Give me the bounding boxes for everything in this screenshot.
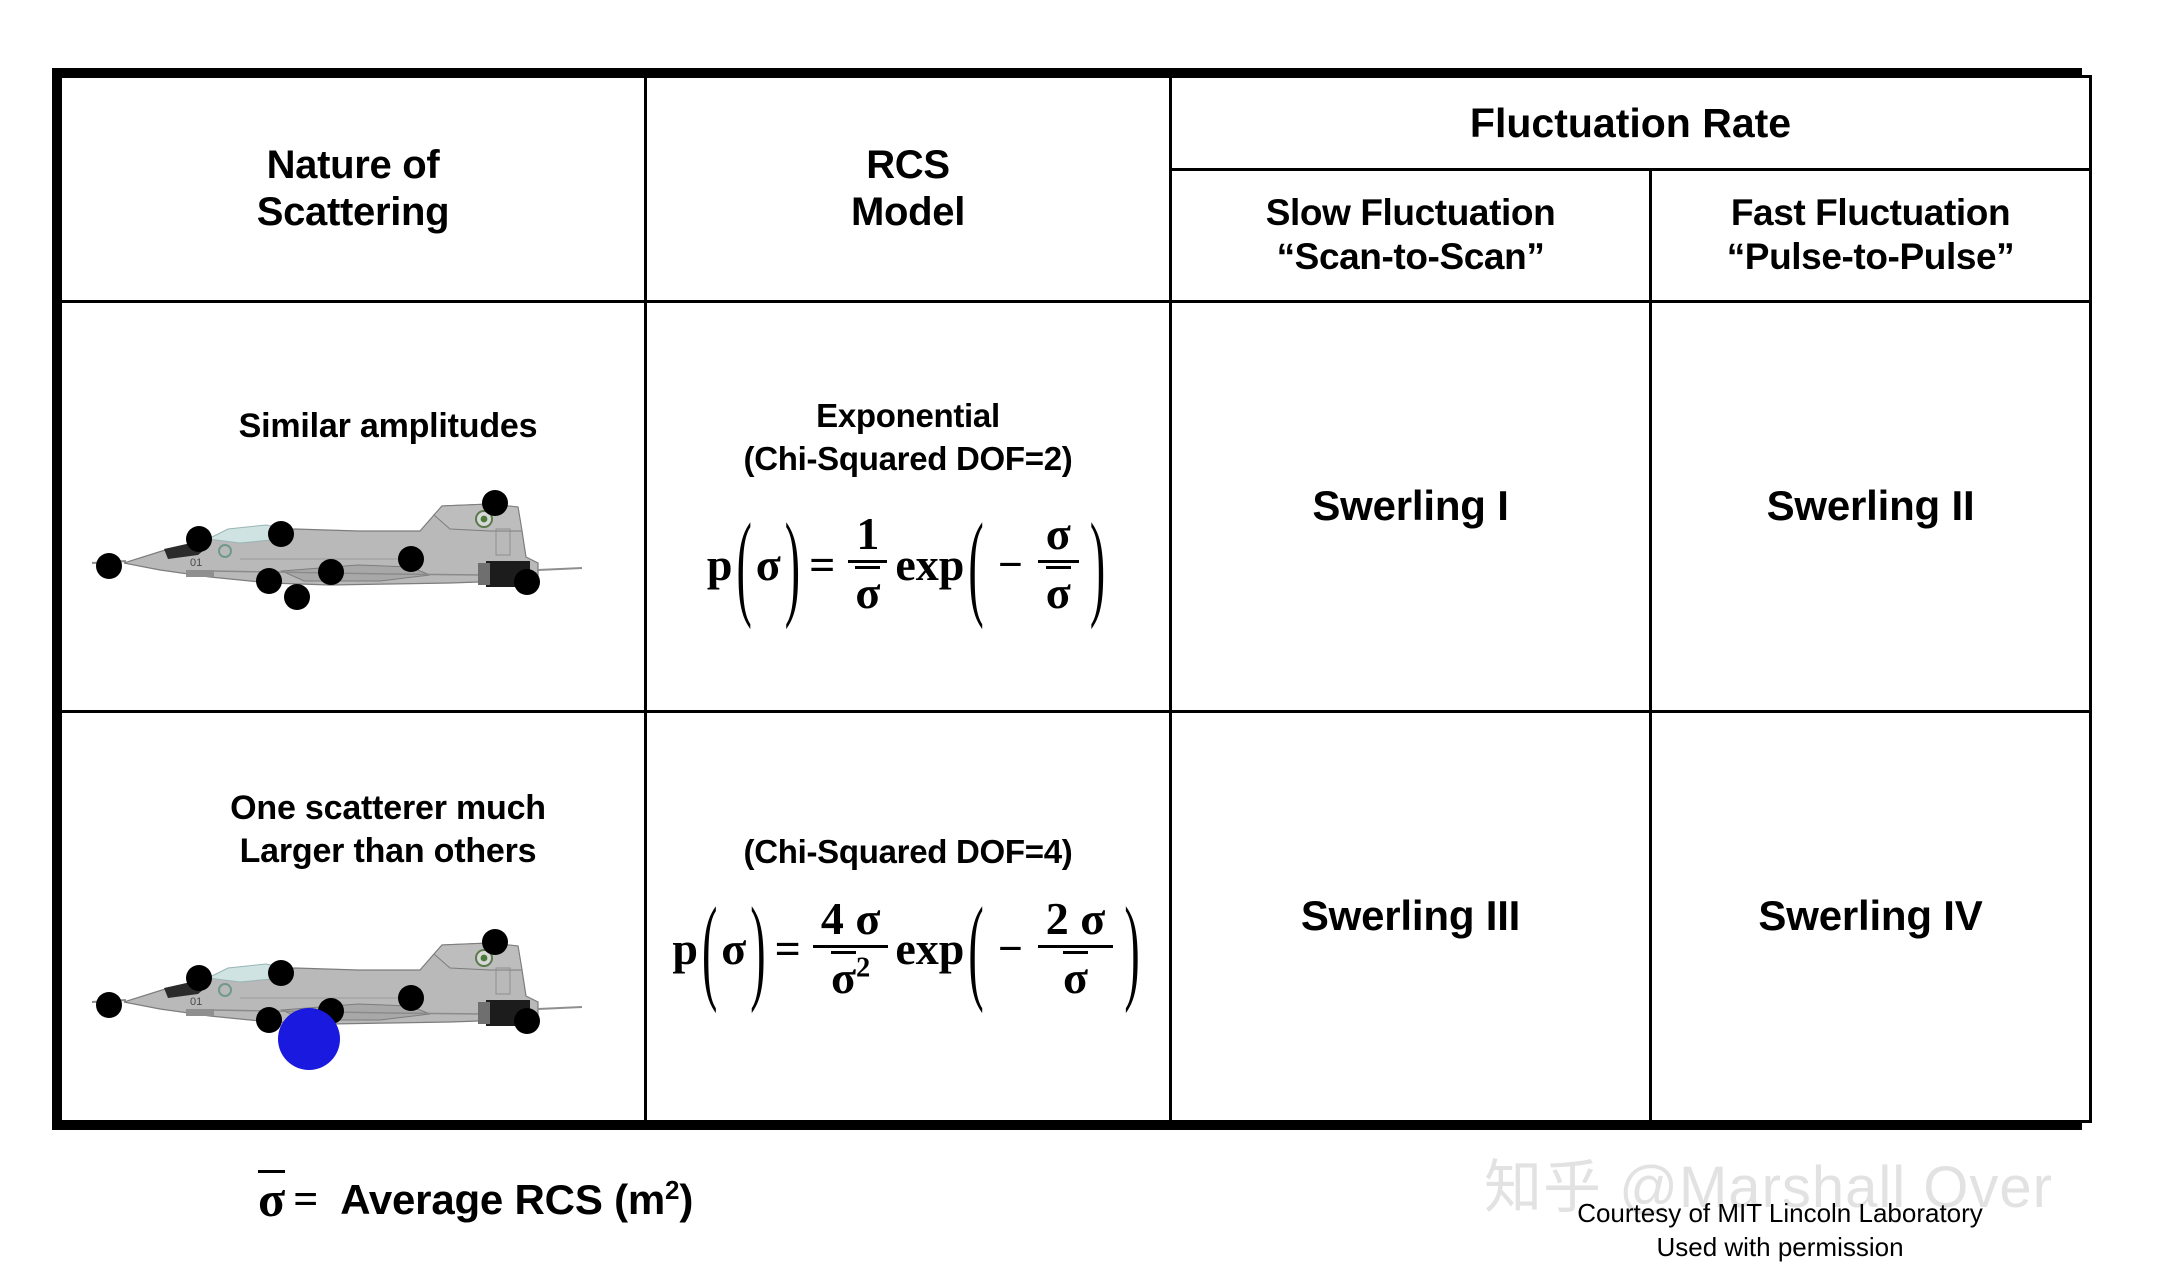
- scatterer-dot: [186, 526, 212, 552]
- cell-rcs-model-row-1: Exponential (Chi-Squared DOF=2) p ( σ ) …: [646, 301, 1171, 711]
- formula-rparen: ): [750, 881, 765, 1016]
- scatterer-dot: [268, 960, 294, 986]
- formula-rparen: ): [785, 496, 800, 631]
- formula-lparen: (: [736, 496, 751, 631]
- pdf-formula-row-2: p ( σ ) = 4 σ σ2 exp ( − 2 σ σ: [672, 896, 1143, 1002]
- scatterer-dot: [268, 521, 294, 547]
- swerling-models-table: Nature of Scattering RCS Model Fluctuati…: [52, 68, 2082, 1130]
- formula-equals: =: [809, 538, 835, 591]
- formula-minus: −: [998, 923, 1023, 974]
- formula-lparen: (: [702, 881, 717, 1016]
- scatterer-dot: [96, 992, 122, 1018]
- formula-argument-fraction: 2 σ σ: [1038, 896, 1114, 1002]
- formula-variable: σ: [721, 922, 746, 975]
- legend-description-superscript: 2: [665, 1175, 679, 1205]
- formula-arg-numerator: σ: [1038, 511, 1079, 563]
- cell-swerling-slow-row-1: Swerling I: [1171, 301, 1651, 711]
- legend-description-prefix: Average RCS (m: [340, 1176, 665, 1223]
- formula-coef-numerator: 1: [848, 511, 887, 563]
- cell-rcs-model-row-2: (Chi-Squared DOF=4) p ( σ ) = 4 σ σ2 exp…: [646, 711, 1171, 1121]
- cell-nature-row-1: Similar amplitudes: [61, 301, 646, 711]
- legend-description: Average RCS (m2): [340, 1175, 693, 1224]
- scatterer-dot: [482, 929, 508, 955]
- formula-lhs: p: [707, 538, 733, 591]
- fighter-jet-icon: 01: [90, 910, 590, 1060]
- svg-text:01: 01: [190, 557, 202, 569]
- table-header-row-1: Nature of Scattering RCS Model Fluctuati…: [61, 77, 2091, 170]
- model-title-row-2: (Chi-Squared DOF=4): [647, 831, 1169, 874]
- formula-coef-denominator: σ: [847, 563, 888, 617]
- table-row: Similar amplitudes: [61, 301, 2091, 711]
- svg-text:01: 01: [190, 996, 202, 1008]
- formula-minus: −: [998, 539, 1023, 590]
- formula-equals: =: [775, 922, 801, 975]
- scatterer-dot: [398, 985, 424, 1011]
- cell-nature-row-2: One scatterer much Larger than others: [61, 711, 646, 1121]
- credit-line-2: Used with permission: [1510, 1230, 2050, 1264]
- fighter-jet-icon: 01: [90, 471, 590, 621]
- scatterer-dot: [284, 584, 310, 610]
- sigma-bar-legend: σ = Average RCS (m2): [258, 1170, 693, 1228]
- header-rcs-model: RCS Model: [646, 77, 1171, 302]
- formula-argument-fraction: σ σ: [1038, 511, 1079, 617]
- formula-coefficient-fraction: 1 σ: [847, 511, 888, 617]
- scatterer-dot: [256, 568, 282, 594]
- table: Nature of Scattering RCS Model Fluctuati…: [59, 75, 2092, 1123]
- scatterer-dot: [186, 965, 212, 991]
- scatterer-dot: [514, 1008, 540, 1034]
- formula-exp: exp: [895, 922, 964, 975]
- formula-variable: σ: [756, 538, 781, 591]
- legend-description-suffix: ): [679, 1176, 693, 1223]
- formula-coefficient-fraction: 4 σ σ2: [813, 896, 889, 1002]
- formula-arg-numerator: 2 σ: [1038, 896, 1114, 948]
- header-nature-of-scattering: Nature of Scattering: [61, 77, 646, 302]
- formula-lhs: p: [672, 922, 698, 975]
- aircraft-diagram-row-1: 01: [90, 471, 590, 621]
- scatterer-dot: [398, 546, 424, 572]
- credit-block: Courtesy of MIT Lincoln Laboratory Used …: [1510, 1196, 2050, 1265]
- cell-swerling-slow-row-2: Swerling III: [1171, 711, 1651, 1121]
- cell-swerling-fast-row-2: Swerling IV: [1651, 711, 2091, 1121]
- nature-label-row-2: One scatterer much Larger than others: [62, 773, 644, 874]
- header-fast-fluctuation: Fast Fluctuation “Pulse-to-Pulse”: [1651, 170, 2091, 301]
- scatterer-dot: [256, 1007, 282, 1033]
- legend-sigma-symbol: σ: [258, 1170, 285, 1228]
- dominant-scatterer-dot: [278, 1008, 340, 1070]
- legend-equals: =: [293, 1174, 318, 1225]
- formula-coef-denominator-exponent: 2: [856, 953, 870, 984]
- nature-label-row-1: Similar amplitudes: [62, 391, 644, 449]
- cell-swerling-fast-row-1: Swerling II: [1651, 301, 2091, 711]
- credit-line-1: Courtesy of MIT Lincoln Laboratory: [1510, 1196, 2050, 1230]
- formula-arg-lparen: (: [968, 496, 983, 631]
- header-fluctuation-rate: Fluctuation Rate: [1171, 77, 2091, 170]
- formula-coef-denominator: σ2: [823, 948, 878, 1002]
- formula-arg-rparen: ): [1124, 881, 1139, 1016]
- formula-arg-denominator: σ: [1055, 948, 1096, 1002]
- aircraft-diagram-row-2: 01: [90, 910, 590, 1060]
- scatterer-dot: [96, 553, 122, 579]
- formula-arg-rparen: ): [1090, 496, 1105, 631]
- pdf-formula-row-1: p ( σ ) = 1 σ exp ( − σ σ ): [707, 511, 1109, 617]
- scatterer-dot: [318, 559, 344, 585]
- scatterer-dot: [482, 490, 508, 516]
- header-slow-fluctuation: Slow Fluctuation “Scan-to-Scan”: [1171, 170, 1651, 301]
- formula-arg-denominator: σ: [1038, 563, 1079, 617]
- formula-coef-numerator: 4 σ: [813, 896, 889, 948]
- model-title-row-1: Exponential (Chi-Squared DOF=2): [647, 395, 1169, 481]
- formula-arg-lparen: (: [968, 881, 983, 1016]
- formula-exp: exp: [895, 538, 964, 591]
- table-row: One scatterer much Larger than others: [61, 711, 2091, 1121]
- scatterer-dot: [514, 569, 540, 595]
